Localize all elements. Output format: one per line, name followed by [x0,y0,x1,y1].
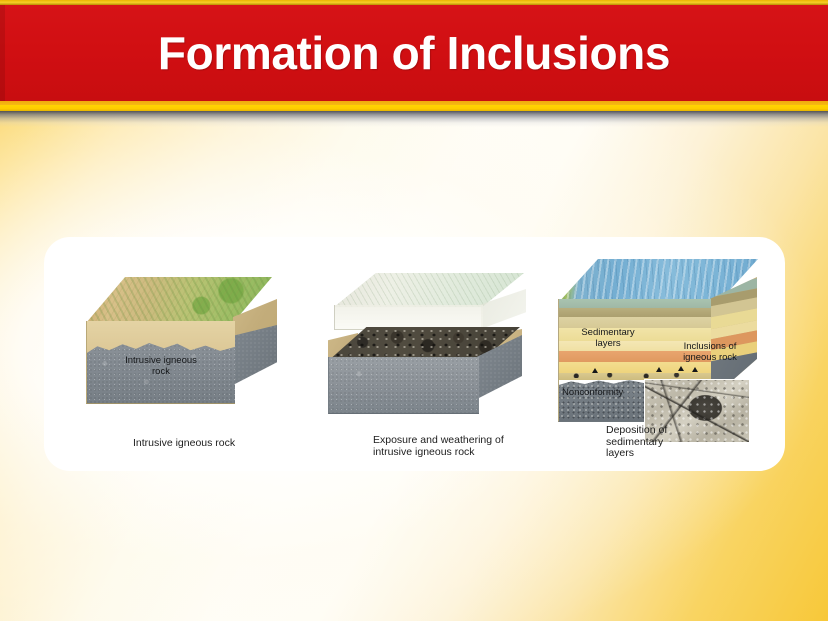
block-1-inner-label-intrusive-igneous-rock: Intrusive igneous rock [87,355,235,377]
figure-panel-exposure-and-weathering: Exposure and weathering of intrusive ign… [316,267,546,457]
block-diagram-1: Intrusive igneous rock [74,277,284,417]
slide: Formation of Inclusions Intrusive igneou… [0,0,828,621]
block-3-stratum [559,362,711,373]
panel-2-caption: Exposure and weathering of intrusive ign… [373,435,504,458]
block-3-stratum [559,308,711,317]
block-1-front-sediment: Intrusive igneous rock [86,321,235,404]
page-title: Formation of Inclusions [0,5,828,101]
inclusion-marker-icon [692,367,698,372]
inclusion-marker-icon [678,366,684,371]
figure-panel-intrusive-igneous-rock: Intrusive igneous rock Intrusive igneous… [74,267,304,457]
block-3-label-sedimentary-layers: Sedimentary layers [556,327,660,349]
block-diagram-2 [316,273,531,423]
figure-panel-deposition-of-sedimentary-layers: Sedimentary layers Inclusions of igneous… [544,255,774,460]
header-drop-shadow [0,111,828,127]
block-3-stratum [559,299,711,308]
inclusion-marker-icon [592,368,598,373]
slide-header-banner: Formation of Inclusions [0,0,828,126]
inclusion-marker-icon [656,367,662,372]
block-2-eroded-ghost-front [334,305,483,330]
figure-card: Intrusive igneous rock Intrusive igneous… [44,237,785,471]
panel-3-caption: Deposition of sedimentary layers [606,425,667,460]
block-diagram-3: Sedimentary layers Inclusions of igneous… [544,255,769,435]
block-3-label-inclusions-of-igneous-rock: Inclusions of igneous rock [658,341,762,363]
figure-panel-row: Intrusive igneous rock Intrusive igneous… [44,237,785,471]
panel-1-caption: Intrusive igneous rock [133,438,235,450]
block-3-nonconformity-surface [558,373,710,378]
block-3-label-nonconformity: Nonconformity [562,387,623,398]
block-2-front-igneous-rock [328,357,479,414]
